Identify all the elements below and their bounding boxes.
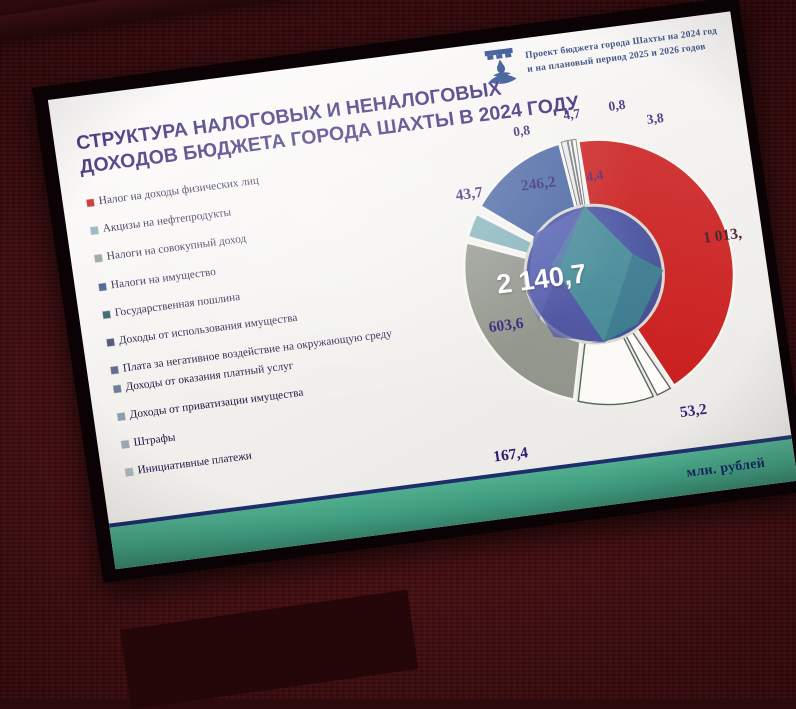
- chart-legend: Налог на доходы физических лиц Акцизы на…: [86, 157, 426, 493]
- legend-label: Штрафы: [133, 431, 177, 451]
- label-initiative-payments: 3,8: [646, 110, 665, 128]
- label-fines: 0,8: [607, 97, 626, 115]
- legend-swatch-icon: [113, 385, 121, 393]
- label-paid-services: 53,2: [679, 401, 708, 422]
- legend-label: Налоги на имущество: [110, 264, 217, 292]
- label-privatization: 4,7: [562, 106, 581, 124]
- presentation-slide: Проект бюджета города Шахты на 2024 год …: [48, 11, 796, 569]
- legend-swatch-icon: [107, 338, 115, 346]
- label-env-fee: 0,8: [512, 122, 531, 140]
- legend-label: Инициативные платежи: [137, 449, 253, 478]
- legend-swatch-icon: [103, 311, 111, 319]
- legend-swatch-icon: [117, 413, 125, 421]
- legend-label: Налог на доходы физических лиц: [98, 174, 260, 209]
- legend-label: Налоги на совокупный доход: [106, 232, 247, 265]
- legend-swatch-icon: [111, 366, 119, 374]
- legend-label: Государственная пошлина: [114, 290, 241, 321]
- doughnut-chart: 2 140,7 0,8 4,7 0,8 3,8 4,4 43,7 246,2 6…: [388, 87, 796, 461]
- label-excise: 43,7: [454, 184, 483, 205]
- legend-swatch-icon: [91, 227, 99, 235]
- legend-label: Акцизы на нефтепродукты: [102, 206, 232, 237]
- pie-svg: [388, 87, 796, 461]
- legend-swatch-icon: [125, 468, 133, 476]
- label-property-use: 167,4: [492, 444, 529, 466]
- legend-swatch-icon: [87, 199, 95, 207]
- units-label: млн. рублей: [686, 456, 767, 482]
- legend-swatch-icon: [95, 255, 103, 263]
- screen-frame: Проект бюджета города Шахты на 2024 год …: [32, 0, 796, 583]
- legend-swatch-icon: [121, 441, 129, 449]
- projection-screen: Проект бюджета города Шахты на 2024 год …: [32, 0, 796, 583]
- label-state-duty: 4,4: [585, 167, 604, 185]
- legend-swatch-icon: [99, 283, 107, 291]
